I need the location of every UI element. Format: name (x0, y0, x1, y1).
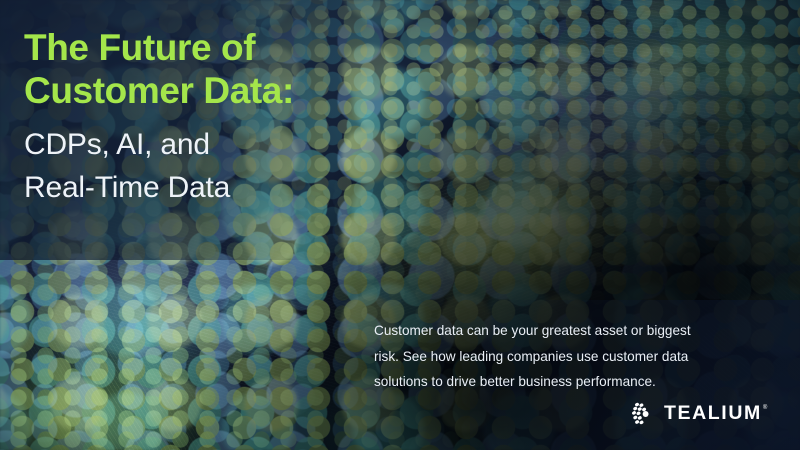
tealium-dots-mark-icon (631, 401, 657, 427)
trademark-symbol: ® (763, 405, 767, 411)
subhead-line-2: Real-Time Data (24, 167, 454, 210)
tealium-wordmark-text: TEALIUM (664, 404, 762, 424)
body-line-1: Customer data can be your greatest asset… (374, 318, 776, 344)
headline-line-2: Customer Data: (24, 69, 444, 112)
headline-line-1: The Future of (24, 26, 444, 69)
body-line-2: risk. See how leading companies use cust… (374, 344, 776, 370)
tealium-wordmark: TEALIUM ® (664, 404, 767, 424)
subhead-line-1: CDPs, AI, and (24, 124, 454, 167)
body-copy: Customer data can be your greatest asset… (374, 318, 776, 395)
page-title: The Future of Customer Data: (24, 26, 444, 113)
tealium-logo[interactable]: TEALIUM ® (631, 399, 781, 429)
hero-banner: The Future of Customer Data: CDPs, AI, a… (0, 0, 800, 450)
page-subtitle: CDPs, AI, and Real-Time Data (24, 124, 454, 209)
content-layer: The Future of Customer Data: CDPs, AI, a… (0, 0, 800, 450)
body-line-3: solutions to drive better business perfo… (374, 369, 776, 395)
